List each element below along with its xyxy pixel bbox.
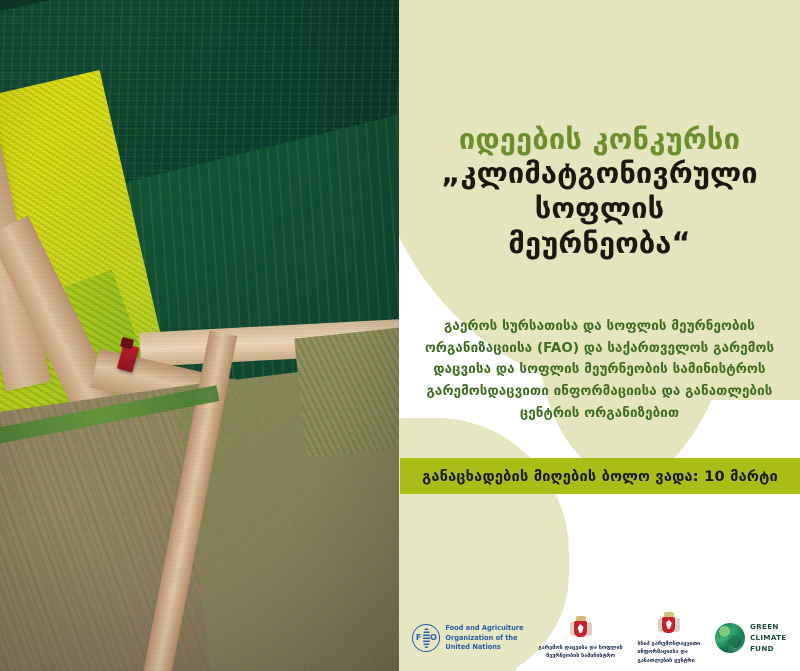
- deadline-banner: განაცხადების მიღების ბოლო ვადა: 10 მარტი: [400, 458, 800, 494]
- organizers-line: გაეროს სურსათისა და სოფლის მეურნეობის: [415, 316, 784, 338]
- crest-shield: [574, 621, 587, 637]
- ministry-line: მეურნეობის სამინისტრო: [538, 652, 622, 660]
- fao-wordmark: Food and Agriculture Organization of the…: [445, 624, 523, 653]
- organizers-paragraph: გაეროს სურსათისა და სოფლის მეურნეობის ორ…: [399, 316, 800, 425]
- title-line-1: იდეების კონკურსი: [413, 122, 786, 156]
- fao-letter-f: F: [416, 633, 421, 642]
- georgia-coat-of-arms-icon: [571, 616, 591, 642]
- logo-footer: F O Food and Agriculture Organization of…: [399, 593, 800, 671]
- logo-eiec: სსიპ გარემოსდაცვითი ინფორმაციისა და განა…: [637, 612, 700, 665]
- title-line-2: „კლიმატგონივრული: [413, 156, 786, 191]
- crest-supporter-right: [587, 622, 592, 636]
- panel-content: იდეების კონკურსი „კლიმატგონივრული სოფლის…: [399, 0, 800, 671]
- photo-grain: [0, 0, 399, 671]
- green-globe-icon: [715, 623, 745, 653]
- eiec-line: სსიპ გარემოსდაცვითი: [637, 640, 700, 648]
- organizers-line: ცენტრის ორგანიზებით: [415, 403, 784, 425]
- eiec-wordmark: სსიპ გარემოსდაცვითი ინფორმაციისა და განა…: [637, 640, 700, 665]
- logo-row: F O Food and Agriculture Organization of…: [399, 612, 800, 665]
- crest-supporter-right: [675, 618, 680, 632]
- crest-shield: [662, 617, 675, 633]
- deadline-text: განაცხადების მიღების ბოლო ვადა: 10 მარტი: [422, 468, 778, 485]
- photo-layers: [0, 0, 399, 671]
- organizers-line: ორგანიზაციისა (FAO) და საქართველოს გარემ…: [415, 338, 784, 360]
- fao-line: Organization of the: [445, 634, 523, 644]
- poster-title: იდეების კონკურსი „კლიმატგონივრული სოფლის…: [399, 122, 800, 261]
- ministry-wordmark: გარემოს დაცვისა და სოფლის მეურნეობის სამ…: [538, 644, 622, 661]
- logo-ministry: გარემოს დაცვისა და სოფლის მეურნეობის სამ…: [538, 616, 622, 661]
- eiec-line: განათლების ცენტრი: [637, 657, 700, 665]
- logo-fao: F O Food and Agriculture Organization of…: [412, 624, 523, 653]
- logo-green-climate-fund: GREEN CLIMATE FUND: [715, 622, 787, 654]
- ministry-line: გარემოს დაცვისა და სოფლის: [538, 644, 622, 652]
- organizers-line: დაცვისა და სოფლის მეურნეობის სამინისტროს: [415, 359, 784, 381]
- fao-line: United Nations: [445, 643, 523, 653]
- georgia-coat-of-arms-icon: [659, 612, 679, 638]
- fao-letter-o: O: [430, 633, 437, 642]
- eiec-line: ინფორმაციისა და: [637, 648, 700, 656]
- organizers-line: გარემოსდაცვითი ინფორმაციისა და განათლები…: [415, 381, 784, 403]
- gcf-line: GREEN: [750, 622, 787, 633]
- fao-line: Food and Agriculture: [445, 624, 523, 634]
- gcf-line: FUND: [750, 644, 787, 655]
- gcf-line: CLIMATE: [750, 633, 787, 644]
- poster-root: იდეების კონკურსი „კლიმატგონივრული სოფლის…: [0, 0, 800, 671]
- title-line-3: სოფლის: [413, 191, 786, 226]
- content-panel: იდეების კონკურსი „კლიმატგონივრული სოფლის…: [399, 0, 800, 671]
- fao-emblem-icon: F O: [412, 624, 440, 652]
- aerial-farmland-photo: [0, 0, 399, 671]
- gcf-wordmark: GREEN CLIMATE FUND: [750, 622, 787, 654]
- title-line-4: მეურნეობა“: [413, 226, 786, 261]
